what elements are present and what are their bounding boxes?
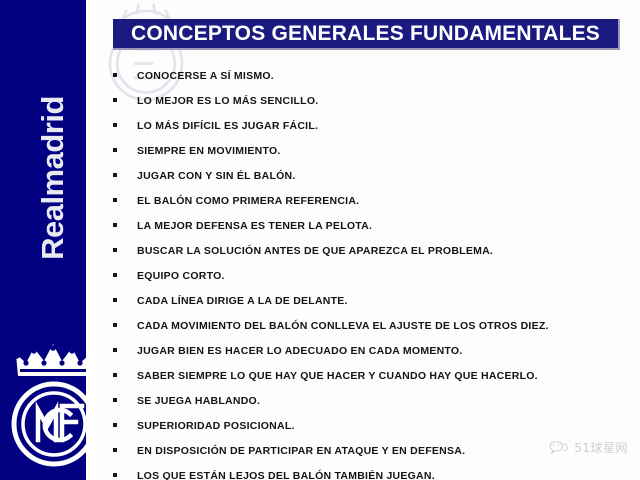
square-bullet-icon xyxy=(113,448,117,452)
sidebar-gutter xyxy=(86,0,94,480)
list-item-label: CADA LÍNEA DIRIGE A LA DE DELANTE. xyxy=(137,289,348,314)
list-item-label: BUSCAR LA SOLUCIÓN ANTES DE QUE APAREZCA… xyxy=(137,239,493,264)
page-title: CONCEPTOS GENERALES FUNDAMENTALES xyxy=(131,22,600,46)
square-bullet-icon xyxy=(113,398,117,402)
list-item: EQUIPO CORTO. xyxy=(108,262,628,287)
list-item-label: SIEMPRE EN MOVIMIENTO. xyxy=(137,139,281,164)
list-item-label: SE JUEGA HABLANDO. xyxy=(137,389,260,414)
real-madrid-crest-icon xyxy=(4,336,86,480)
list-item-label: CONOCERSE A SÍ MISMO. xyxy=(137,64,274,89)
sidebar: Realmadrid xyxy=(0,0,86,480)
list-item: EL BALÓN COMO PRIMERA REFERENCIA. xyxy=(108,187,628,212)
list-item: LOS QUE ESTÁN LEJOS DEL BALÓN TAMBIÉN JU… xyxy=(108,462,628,480)
square-bullet-icon xyxy=(113,223,117,227)
list-item-label: SABER SIEMPRE LO QUE HAY QUE HACER Y CUA… xyxy=(137,364,538,389)
square-bullet-icon xyxy=(113,173,117,177)
list-item: SABER SIEMPRE LO QUE HAY QUE HACER Y CUA… xyxy=(108,362,628,387)
square-bullet-icon xyxy=(113,348,117,352)
presentation-slide: Realmadrid xyxy=(0,0,640,480)
list-item-label: JUGAR BIEN ES HACER LO ADECUADO EN CADA … xyxy=(137,339,462,364)
square-bullet-icon xyxy=(113,298,117,302)
site-watermark: 51球星网 xyxy=(549,439,628,456)
list-item: CADA MOVIMIENTO DEL BALÓN CONLLEVA EL AJ… xyxy=(108,312,628,337)
list-item-label: EL BALÓN COMO PRIMERA REFERENCIA. xyxy=(137,189,359,214)
list-item: LO MEJOR ES LO MÁS SENCILLO. xyxy=(108,87,628,112)
list-item-label: SUPERIORIDAD POSICIONAL. xyxy=(137,414,295,439)
square-bullet-icon xyxy=(113,98,117,102)
list-item: JUGAR BIEN ES HACER LO ADECUADO EN CADA … xyxy=(108,337,628,362)
list-item-label: LO MEJOR ES LO MÁS SENCILLO. xyxy=(137,89,318,114)
watermark-label: 51球星网 xyxy=(574,439,628,456)
list-item-label: LA MEJOR DEFENSA ES TENER LA PELOTA. xyxy=(137,214,372,239)
list-item: CONOCERSE A SÍ MISMO. xyxy=(108,62,628,87)
square-bullet-icon xyxy=(113,148,117,152)
list-item-label: LOS QUE ESTÁN LEJOS DEL BALÓN TAMBIÉN JU… xyxy=(137,464,435,480)
brand-label: Realmadrid xyxy=(35,73,71,283)
square-bullet-icon xyxy=(113,123,117,127)
list-item: BUSCAR LA SOLUCIÓN ANTES DE QUE APAREZCA… xyxy=(108,237,628,262)
list-item: SUPERIORIDAD POSICIONAL. xyxy=(108,412,628,437)
square-bullet-icon xyxy=(113,323,117,327)
square-bullet-icon xyxy=(113,423,117,427)
square-bullet-icon xyxy=(113,373,117,377)
list-item-label: CADA MOVIMIENTO DEL BALÓN CONLLEVA EL AJ… xyxy=(137,314,549,339)
square-bullet-icon xyxy=(113,273,117,277)
list-item: CADA LÍNEA DIRIGE A LA DE DELANTE. xyxy=(108,287,628,312)
list-item-label: LO MÁS DIFÍCIL ES JUGAR FÁCIL. xyxy=(137,114,318,139)
list-item-label: EN DISPOSICIÓN DE PARTICIPAR EN ATAQUE Y… xyxy=(137,439,465,464)
wechat-icon xyxy=(549,440,569,455)
list-item: LA MEJOR DEFENSA ES TENER LA PELOTA. xyxy=(108,212,628,237)
bullet-list: CONOCERSE A SÍ MISMO. LO MEJOR ES LO MÁS… xyxy=(108,62,628,480)
square-bullet-icon xyxy=(113,473,117,477)
square-bullet-icon xyxy=(113,248,117,252)
list-item: SE JUEGA HABLANDO. xyxy=(108,387,628,412)
square-bullet-icon xyxy=(113,198,117,202)
slide-title-banner: CONCEPTOS GENERALES FUNDAMENTALES xyxy=(113,19,620,50)
list-item-label: EQUIPO CORTO. xyxy=(137,264,225,289)
list-item: SIEMPRE EN MOVIMIENTO. xyxy=(108,137,628,162)
list-item-label: JUGAR CON Y SIN ÉL BALÓN. xyxy=(137,164,296,189)
list-item: JUGAR CON Y SIN ÉL BALÓN. xyxy=(108,162,628,187)
list-item: LO MÁS DIFÍCIL ES JUGAR FÁCIL. xyxy=(108,112,628,137)
square-bullet-icon xyxy=(113,73,117,77)
